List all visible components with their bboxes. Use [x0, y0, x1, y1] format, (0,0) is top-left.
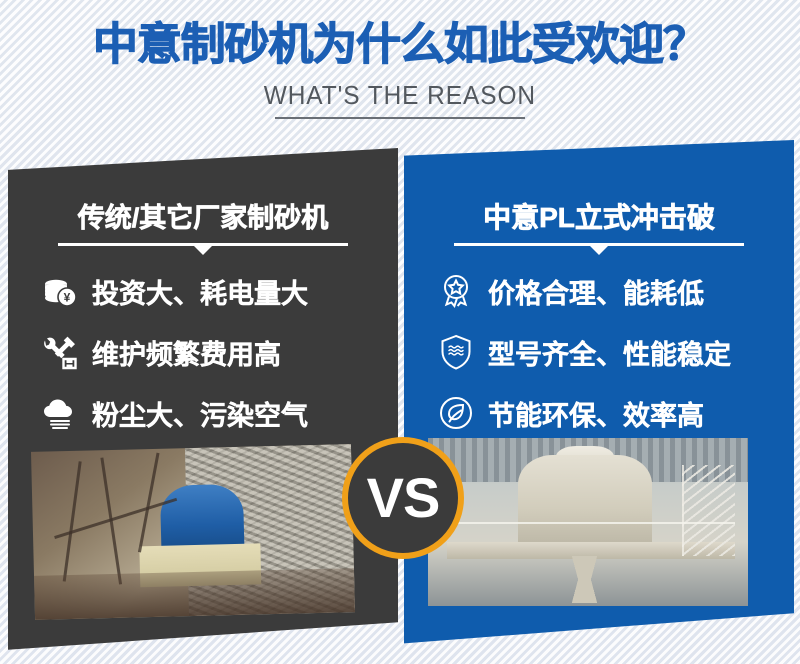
dust-cloud-icon — [38, 391, 82, 435]
svg-text:¥: ¥ — [64, 291, 71, 305]
panel-left-feature-list: ¥ 投资大、耗电量大 — [38, 262, 378, 445]
crusher-body — [518, 455, 652, 552]
feature-label: 价格合理、能耗低 — [488, 272, 704, 311]
award-medal-star-icon — [434, 269, 478, 313]
coins-yuan-icon: ¥ — [38, 269, 82, 313]
platform-railing — [441, 522, 735, 524]
shield-waves-icon — [434, 330, 478, 374]
page-subtitle: WHAT'S THE REASON — [264, 80, 536, 111]
promo-banner: 中意制砂机为什么如此受欢迎？ WHAT'S THE REASON 传统/其它厂家… — [0, 0, 800, 664]
list-item: 价格合理、能耗低 — [434, 262, 774, 320]
tools-wrench-screwdriver-icon — [38, 330, 82, 374]
panel-left-title: 传统/其它厂家制砂机 — [8, 196, 398, 235]
chevron-down-icon — [194, 246, 212, 255]
list-item: 粉尘大、污染空气 — [38, 384, 378, 442]
feature-label: 粉尘大、污染空气 — [92, 394, 308, 433]
feature-label: 投资大、耗电量大 — [92, 272, 308, 311]
traditional-machine-photo — [31, 444, 355, 620]
panel-left-content: 传统/其它厂家制砂机 ¥ — [8, 148, 398, 664]
list-item: 型号齐全、性能稳定 — [434, 323, 774, 381]
blue-machine — [160, 484, 245, 553]
crusher-legs — [511, 556, 658, 603]
feature-label: 维护频繁费用高 — [92, 333, 281, 372]
comparison-panel-traditional: 传统/其它厂家制砂机 ¥ — [8, 148, 398, 664]
chevron-down-icon — [590, 246, 608, 255]
subtitle-block: WHAT'S THE REASON — [255, 80, 545, 119]
subtitle-underline — [275, 117, 525, 119]
zhongyi-crusher-photo — [428, 438, 748, 606]
list-item: 节能环保、效率高 — [434, 384, 774, 442]
list-item: ¥ 投资大、耗电量大 — [38, 262, 378, 320]
rubble-ground — [34, 568, 355, 619]
comparison-panel-zhongyi: 中意PL立式冲击破 价格 — [404, 140, 794, 660]
feature-label: 节能环保、效率高 — [488, 394, 704, 433]
panel-right-feature-list: 价格合理、能耗低 型号齐全、性能稳定 — [434, 262, 774, 445]
panel-right-content: 中意PL立式冲击破 价格 — [404, 140, 794, 660]
vs-label: VS — [367, 470, 440, 526]
banner-header: 中意制砂机为什么如此受欢迎？ WHAT'S THE REASON — [0, 0, 800, 140]
vs-badge: VS — [342, 437, 464, 559]
access-stairs — [682, 465, 735, 556]
panel-right-title: 中意PL立式冲击破 — [404, 196, 794, 236]
support-beam — [63, 461, 82, 581]
photo-scene — [428, 438, 748, 606]
list-item: 维护频繁费用高 — [38, 323, 378, 381]
page-title: 中意制砂机为什么如此受欢迎？ — [0, 0, 800, 68]
leaf-eco-circle-icon — [434, 391, 478, 435]
feature-label: 型号齐全、性能稳定 — [488, 333, 731, 372]
photo-scene — [31, 444, 355, 620]
